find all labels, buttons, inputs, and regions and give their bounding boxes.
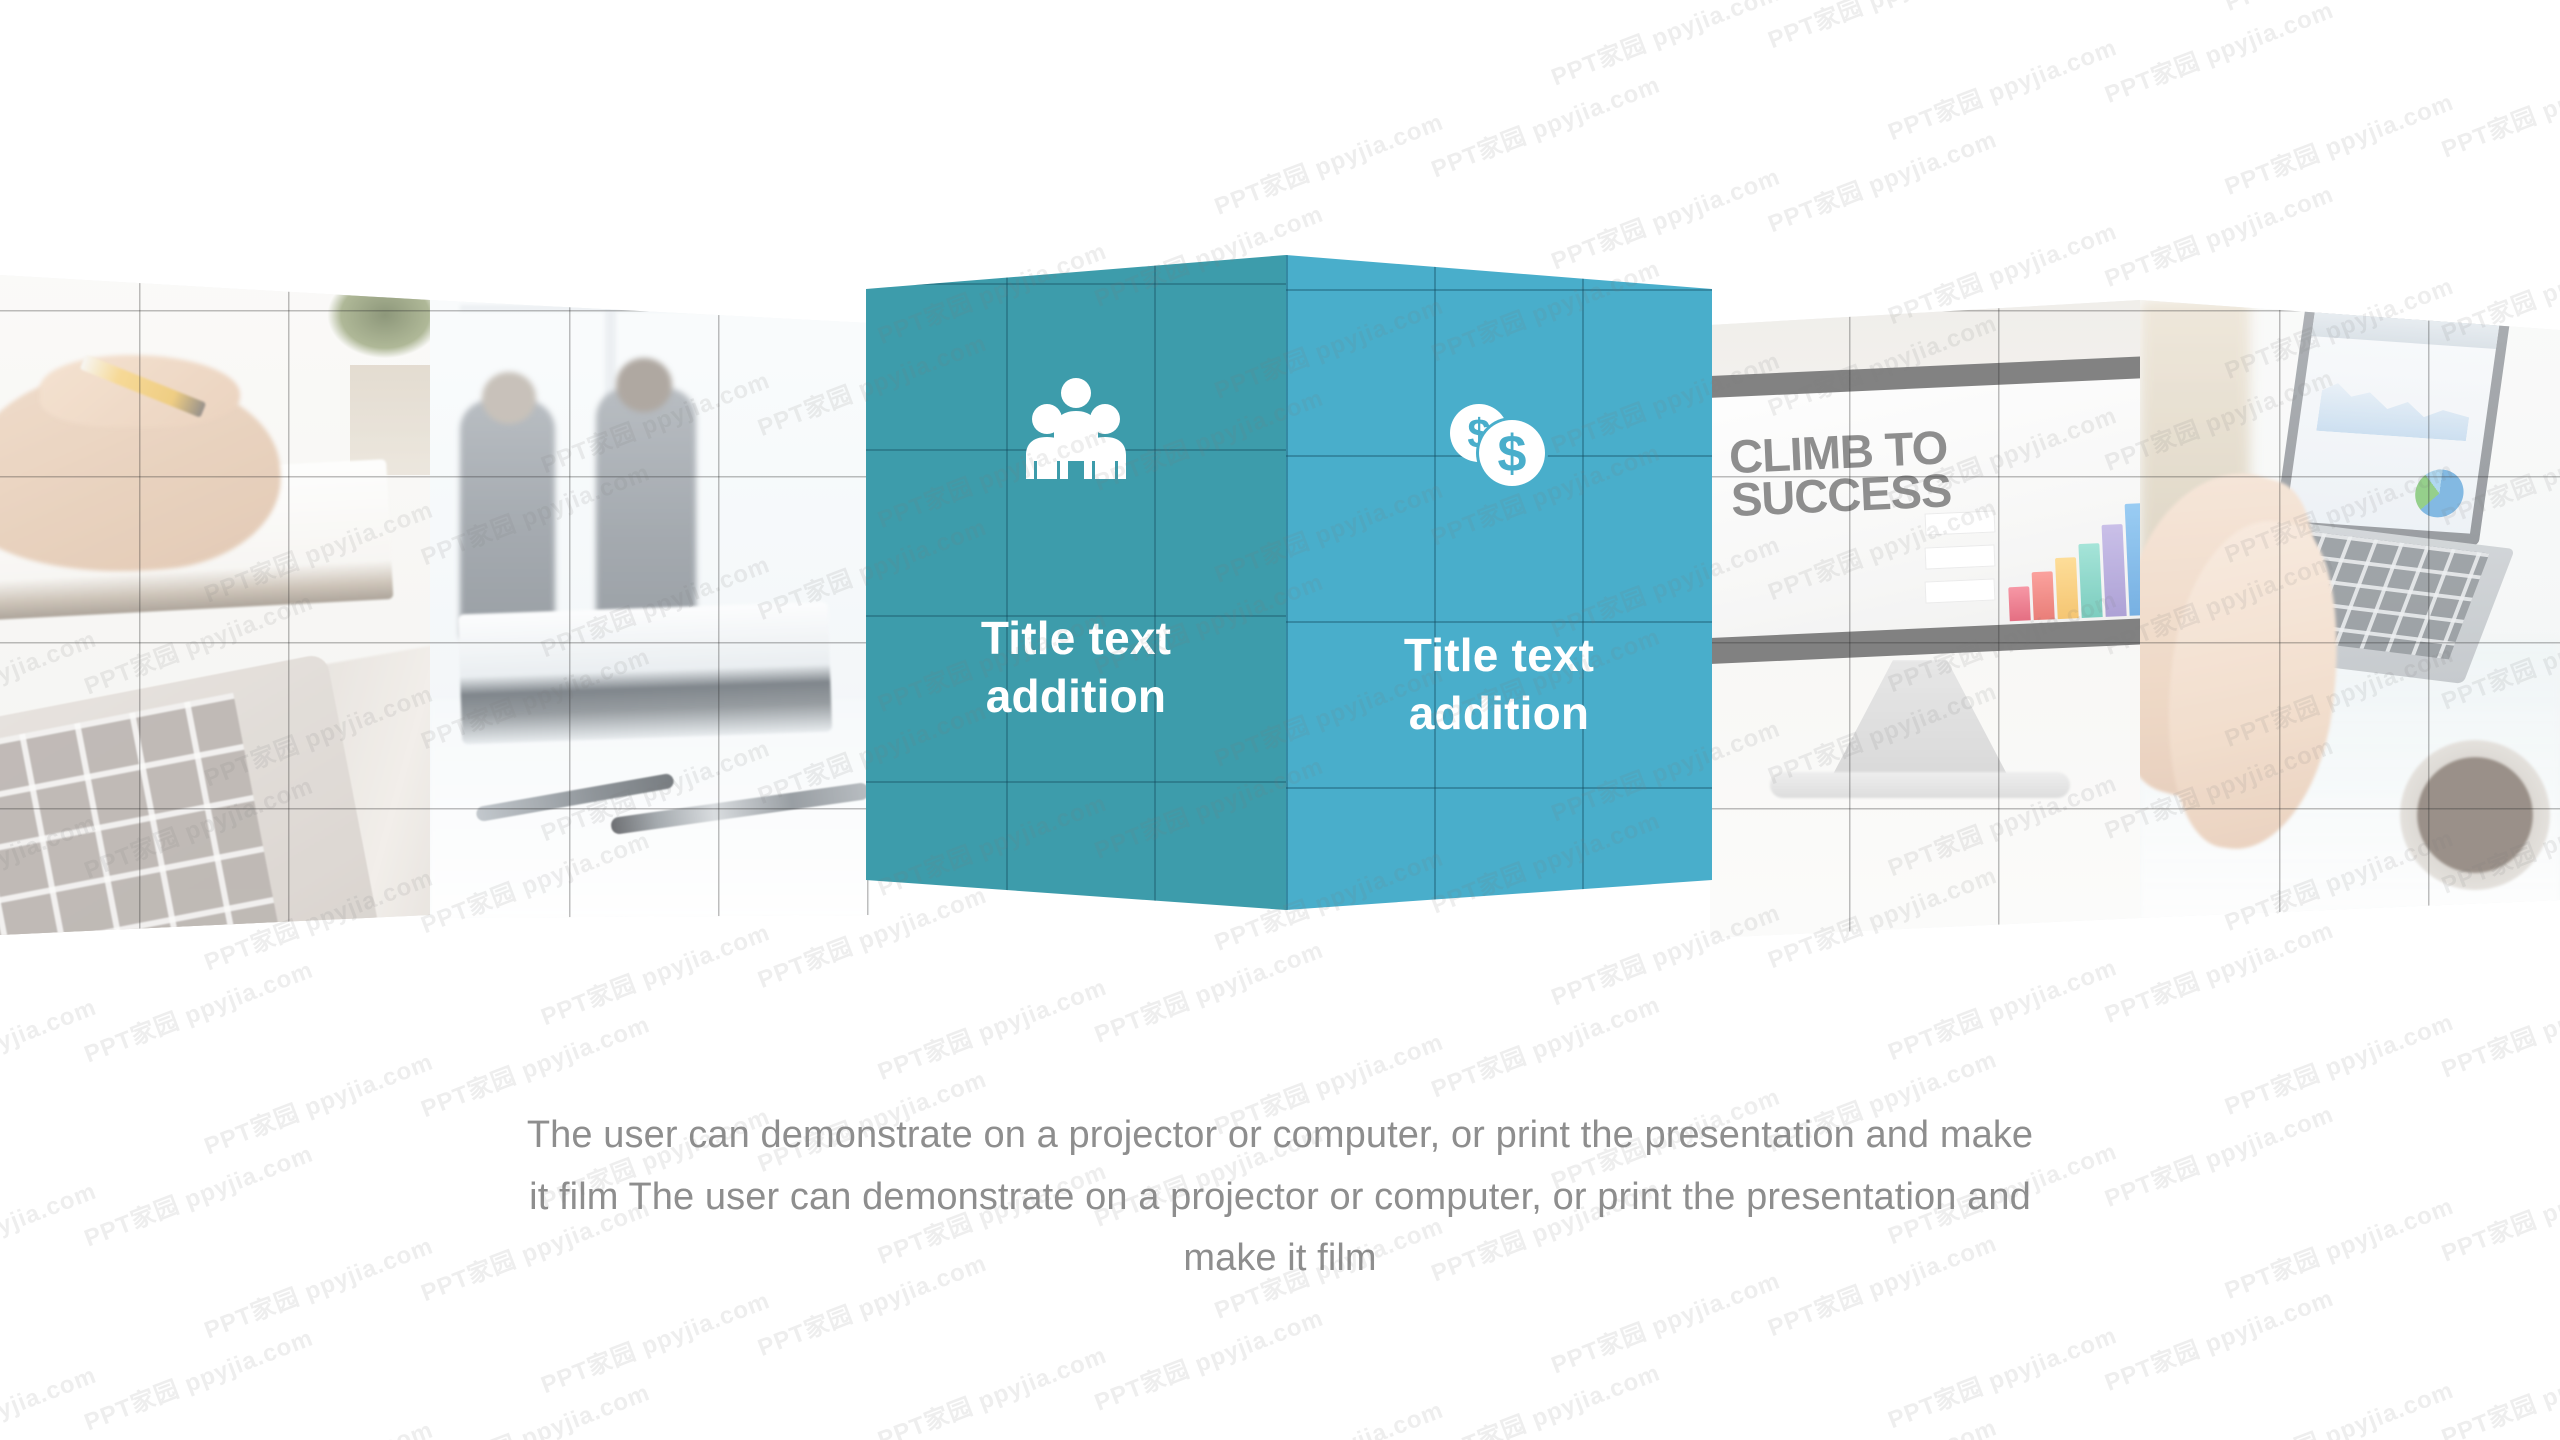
desk-writing-photo — [0, 0, 430, 1000]
monitor-base-shape — [1770, 772, 2070, 798]
caption-paragraph: The user can demonstrate on a projector … — [520, 1105, 2040, 1290]
svg-text:$: $ — [1498, 425, 1527, 483]
chart-bar — [2125, 503, 2140, 616]
box-face-left-title: Title text addition — [911, 610, 1241, 725]
box-face-right-title-line1: Title text — [1334, 627, 1664, 685]
screen-callout — [1925, 544, 1996, 569]
box-face-grid — [1286, 255, 1712, 935]
screen-callout — [1925, 510, 1996, 535]
box-face-left-title-line1: Title text — [911, 610, 1241, 668]
box-face-grid — [866, 255, 1286, 935]
meeting-tablet-photo — [430, 0, 870, 1000]
box-face-right-title-line2: addition — [1334, 685, 1664, 743]
meeting-tablet-photo-art — [430, 0, 870, 1000]
chart-bar — [2078, 543, 2102, 618]
chart-bar — [2032, 571, 2055, 620]
laptop-typing-photo — [2140, 0, 2560, 1000]
laptop-keys-shape — [0, 693, 281, 1000]
box-face-left-title-line2: addition — [911, 668, 1241, 726]
desk-writing-photo-art — [0, 0, 430, 1000]
person-shape — [460, 400, 555, 640]
monitor-success-photo-art: CLIMB TO SUCCESS — [1710, 0, 2140, 1000]
box-face-right-title: Title text addition — [1334, 627, 1664, 742]
laptop-screen-shape — [2285, 310, 2499, 533]
tablet-shape — [458, 602, 832, 745]
monitor-stand-shape — [1830, 660, 2010, 780]
box-face-right[interactable]: $ $ Title text addition — [1286, 255, 1712, 935]
chart-bar — [2008, 586, 2031, 621]
laptop-typing-photo-art — [2140, 0, 2560, 1000]
chart-bar — [2102, 524, 2127, 617]
person-head-shape — [616, 358, 672, 412]
screen-callout — [1925, 578, 1996, 603]
people-group-icon — [1011, 373, 1141, 483]
dollar-coins-icon: $ $ — [1434, 395, 1564, 505]
box-face-left[interactable]: Title text addition — [866, 255, 1286, 935]
screen-toolbar-shape — [2311, 310, 2499, 349]
slide-canvas: CLIMB TO SUCCESS — [0, 0, 2560, 1440]
coffee-cup-shape — [2400, 740, 2550, 890]
screen-headline: CLIMB TO SUCCESS — [1728, 425, 1962, 522]
monitor-success-photo: CLIMB TO SUCCESS — [1710, 0, 2140, 1000]
window-frame-shape — [460, 305, 840, 311]
screen-pie-chart — [2412, 468, 2467, 519]
screen-area-chart — [2316, 361, 2475, 441]
chart-bar — [2055, 557, 2079, 619]
person-head-shape — [482, 372, 536, 424]
screen-bar-chart — [2002, 495, 2140, 622]
